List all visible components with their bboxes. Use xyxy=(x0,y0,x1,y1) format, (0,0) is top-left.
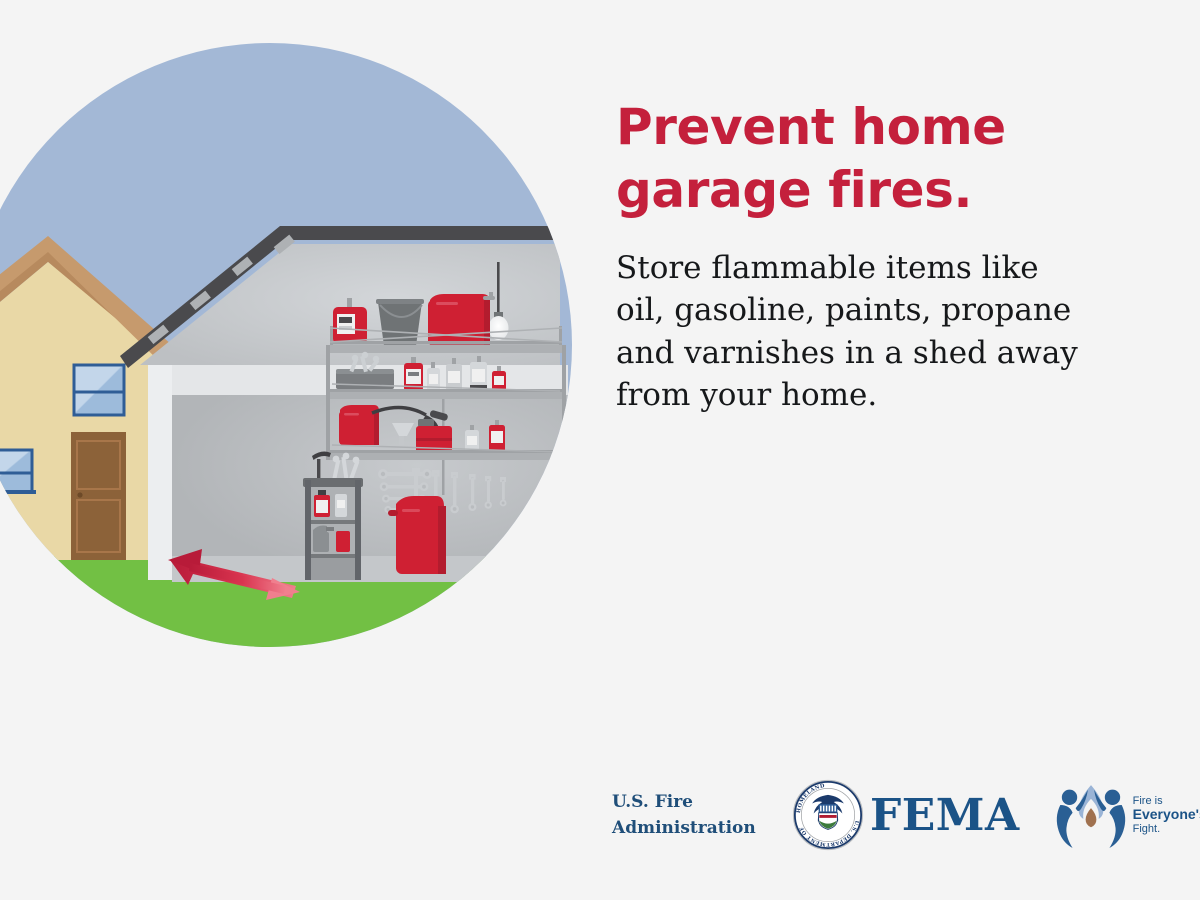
usfa-line-2: Administration xyxy=(612,815,750,841)
body-line-2: oil, gasoline, paints, propane xyxy=(616,289,1156,331)
headline-line-1: Prevent home xyxy=(616,96,1156,159)
shelf-board-middle xyxy=(326,392,566,399)
feef-line-2: Everyone's xyxy=(1133,807,1200,823)
fire-is-everyones-fight-icon xyxy=(1052,782,1130,848)
house-door[interactable] xyxy=(71,432,126,560)
fire-is-everyones-fight-text: Fire is Everyone's Fight. xyxy=(1133,795,1200,836)
usfa-wordmark: U.S. Fire Administration xyxy=(612,789,750,842)
door-knob[interactable] xyxy=(77,492,82,497)
shelf-board-top xyxy=(326,345,566,353)
body-line-4: from your home. xyxy=(616,374,1156,416)
usfa-line-1: U.S. Fire xyxy=(612,789,750,815)
feef-line-3: Fight. xyxy=(1133,823,1200,835)
gas-can-floor xyxy=(388,496,446,574)
shelf-post-left xyxy=(326,345,330,460)
shelf-board-bottom xyxy=(326,453,566,460)
page-title: Prevent home garage fires. xyxy=(616,96,1156,221)
cart-top-surface xyxy=(303,478,363,487)
copy-block: Prevent home garage fires. Store flammab… xyxy=(616,96,1156,417)
fema-wordmark: FEMA xyxy=(870,790,1020,841)
house-window-upper xyxy=(74,365,124,415)
home-garage-illustration xyxy=(0,0,600,700)
dhs-seal-icon: HOMELAND SECURITY U.S. DEPARTMENT OF xyxy=(792,779,864,851)
body-text: Store flammable items like oil, gasoline… xyxy=(616,247,1156,417)
shelf-post-right xyxy=(562,345,566,460)
body-line-3: and varnishes in a shed away xyxy=(616,332,1156,374)
headline-line-2: garage fires. xyxy=(616,159,1156,222)
footer-logo-strip: U.S. Fire Administration HOMELAND SECURI… xyxy=(612,770,1172,860)
house-window-left xyxy=(0,450,36,494)
body-line-1: Store flammable items like xyxy=(616,247,1156,289)
poster-canvas: Prevent home garage fires. Store flammab… xyxy=(0,0,1200,900)
cart-shelf-3 xyxy=(310,558,356,580)
fire-is-everyones-fight-lockup: Fire is Everyone's Fight. xyxy=(1052,782,1200,848)
garage-left-jamb xyxy=(148,365,172,580)
